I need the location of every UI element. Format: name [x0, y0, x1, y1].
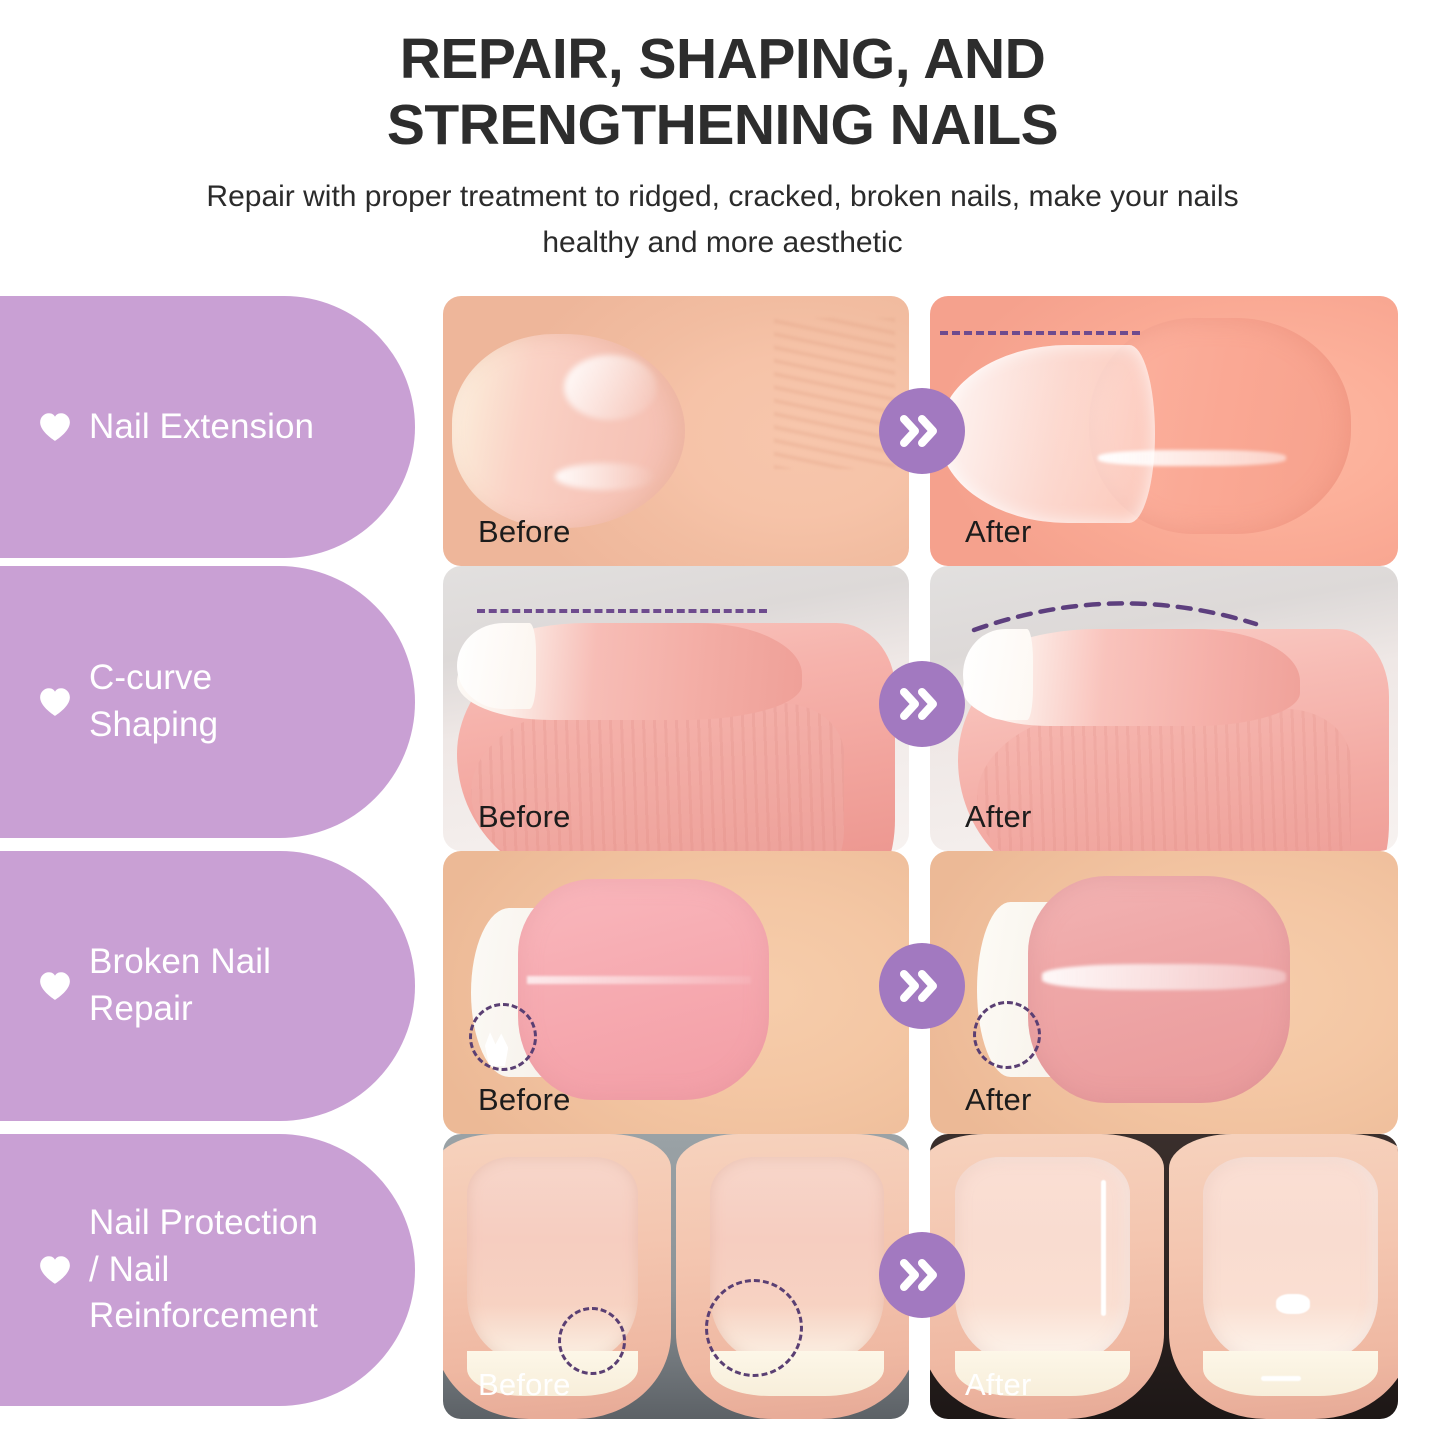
double-chevron-right-icon — [898, 964, 946, 1008]
feature-row-c-curve-shaping: C-curve Shaping Before — [0, 566, 1445, 851]
after-caption-2: After — [965, 799, 1031, 835]
before-photo-4: Before — [443, 1134, 909, 1419]
feature-row-broken-nail-repair: Broken Nail Repair Before After — [0, 851, 1445, 1134]
feature-rows: Nail Extension Before After — [0, 296, 1445, 1419]
transition-arrow-badge-3 — [879, 943, 965, 1029]
after-photo-1: After — [930, 296, 1398, 566]
header: REPAIR, SHAPING, AND STRENGTHENING NAILS… — [0, 26, 1445, 265]
feature-label-pill-4[interactable]: Nail Protection / Nail Reinforcement — [0, 1134, 415, 1406]
page-title: REPAIR, SHAPING, AND STRENGTHENING NAILS — [0, 26, 1445, 158]
before-caption-4: Before — [478, 1367, 571, 1403]
after-photo-2: After — [930, 566, 1398, 851]
before-caption-3: Before — [478, 1082, 571, 1118]
feature-label-pill-1[interactable]: Nail Extension — [0, 296, 415, 558]
infographic-page: REPAIR, SHAPING, AND STRENGTHENING NAILS… — [0, 0, 1445, 1445]
double-chevron-right-icon — [898, 682, 946, 726]
after-caption-3: After — [965, 1082, 1031, 1118]
transition-arrow-badge-4 — [879, 1232, 965, 1318]
feature-label-text-1: Nail Extension — [89, 404, 314, 451]
after-caption-4: After — [965, 1367, 1031, 1403]
feature-label-text-4: Nail Protection / Nail Reinforcement — [89, 1200, 318, 1340]
feature-label-pill-2[interactable]: C-curve Shaping — [0, 566, 415, 838]
double-chevron-right-icon — [898, 1253, 946, 1297]
transition-arrow-badge-1 — [879, 388, 965, 474]
heart-icon — [35, 1250, 75, 1290]
heart-icon — [35, 407, 75, 447]
heart-icon — [35, 966, 75, 1006]
page-subtitle: Repair with proper treatment to ridged, … — [0, 174, 1445, 265]
before-caption-1: Before — [478, 514, 571, 550]
before-photo-3: Before — [443, 851, 909, 1134]
feature-label-pill-3[interactable]: Broken Nail Repair — [0, 851, 415, 1121]
after-photo-3: After — [930, 851, 1398, 1134]
feature-row-nail-protection: Nail Protection / Nail Reinforcement Bef… — [0, 1134, 1445, 1419]
before-photo-1: Before — [443, 296, 909, 566]
feature-label-text-2: C-curve Shaping — [89, 655, 218, 748]
after-photo-4: After — [930, 1134, 1398, 1419]
feature-label-text-3: Broken Nail Repair — [89, 939, 271, 1032]
transition-arrow-badge-2 — [879, 661, 965, 747]
after-caption-1: After — [965, 514, 1031, 550]
before-caption-2: Before — [478, 799, 571, 835]
double-chevron-right-icon — [898, 409, 946, 453]
heart-icon — [35, 682, 75, 722]
feature-row-nail-extension: Nail Extension Before After — [0, 296, 1445, 566]
before-photo-2: Before — [443, 566, 909, 851]
